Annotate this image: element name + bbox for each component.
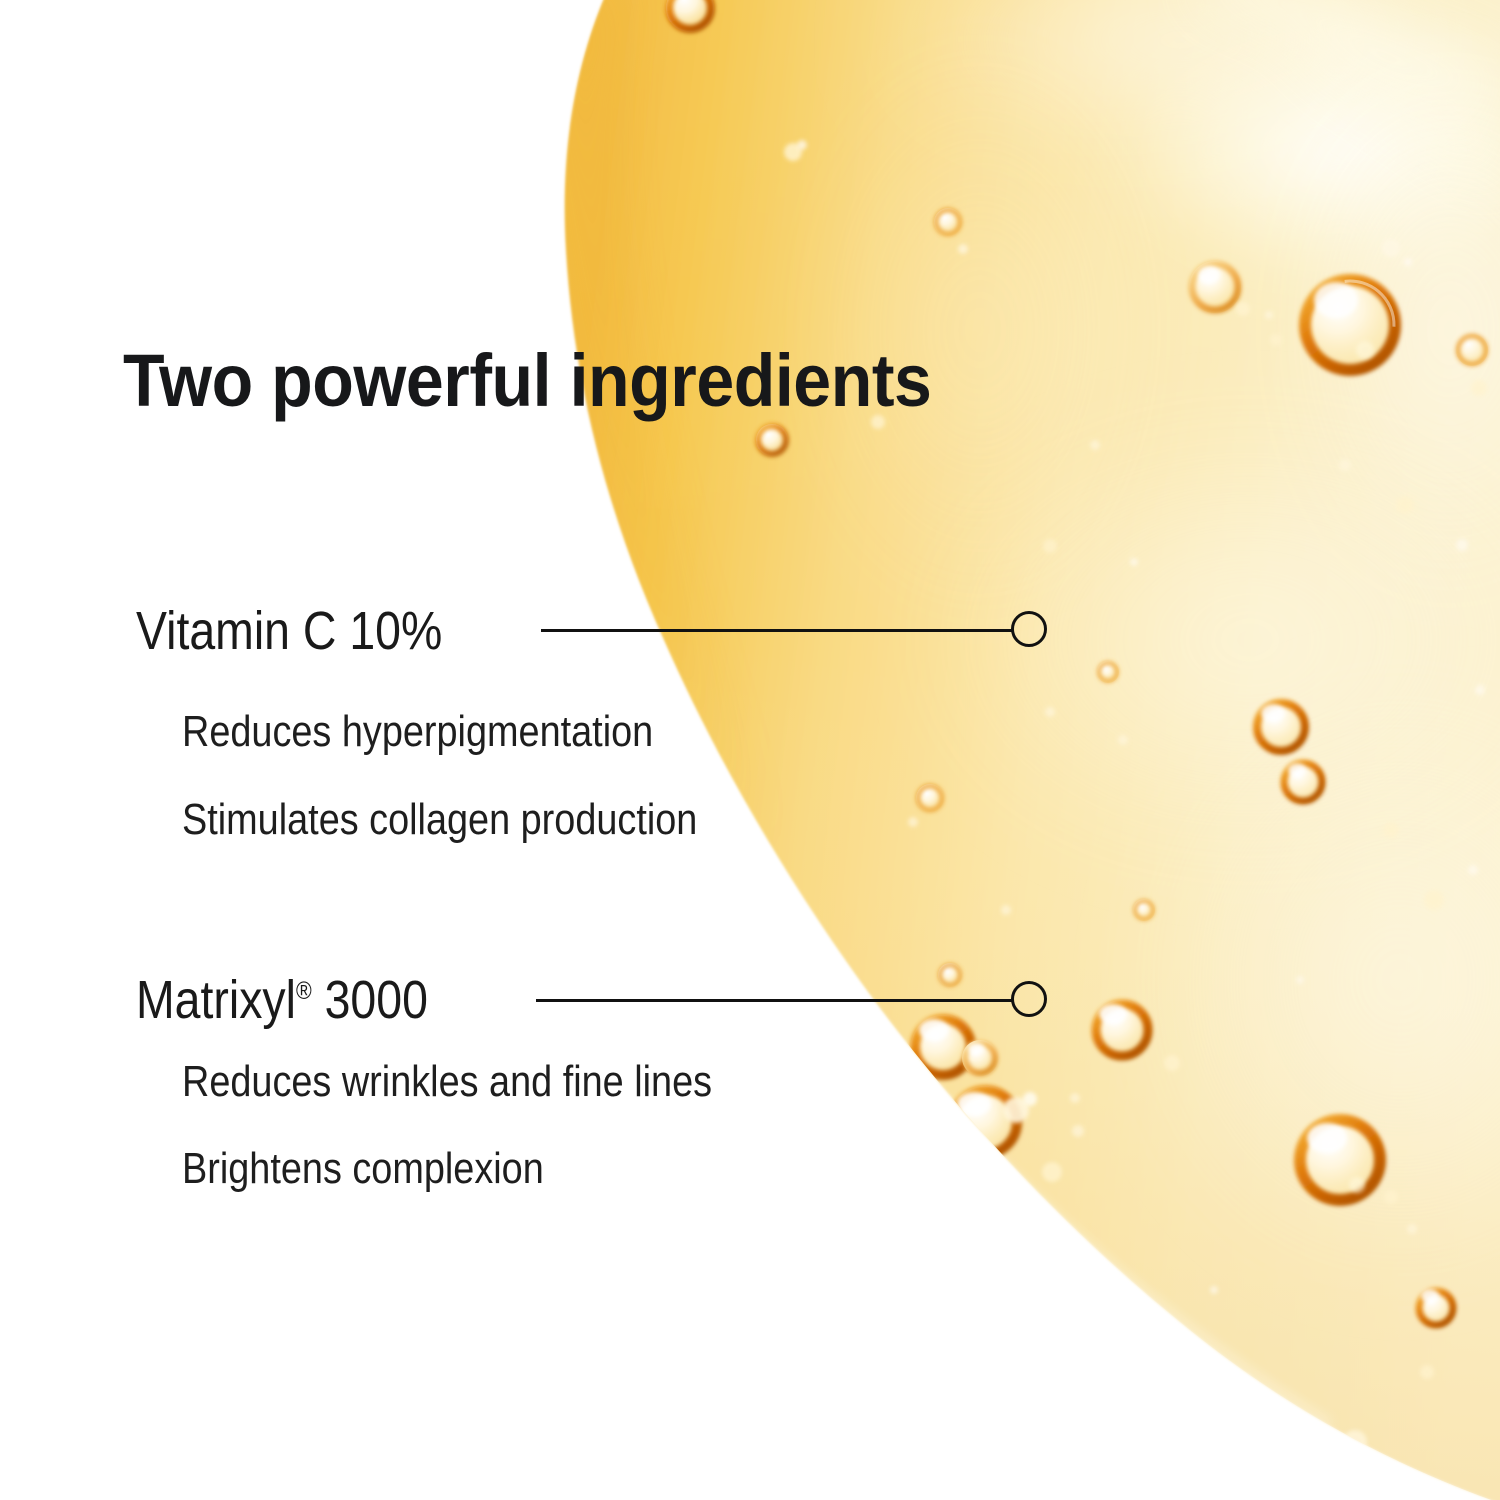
- benefit-item: Reduces wrinkles and fine lines: [182, 1060, 712, 1104]
- ingredient-name-suffix: 3000: [312, 970, 428, 1030]
- ingredient-title-matrixyl: Matrixyl® 3000: [136, 973, 428, 1027]
- infographic-canvas: Two powerful ingredients Vitamin C 10% R…: [0, 0, 1500, 1500]
- benefit-item: Reduces hyperpigmentation: [182, 710, 653, 754]
- callout-marker-matrixyl[interactable]: [1011, 981, 1047, 1017]
- ingredient-name-text: Matrixyl: [136, 970, 296, 1030]
- callout-marker-vitamin-c[interactable]: [1011, 611, 1047, 647]
- benefit-item: Stimulates collagen production: [182, 798, 697, 842]
- page-title: Two powerful ingredients: [123, 344, 931, 418]
- leader-line-matrixyl: [536, 999, 1014, 1002]
- ingredient-title-vitamin-c: Vitamin C 10%: [136, 604, 442, 658]
- leader-line-vitamin-c: [541, 629, 1014, 632]
- registered-trademark-icon: ®: [296, 978, 312, 1005]
- benefit-item: Brightens complexion: [182, 1147, 544, 1191]
